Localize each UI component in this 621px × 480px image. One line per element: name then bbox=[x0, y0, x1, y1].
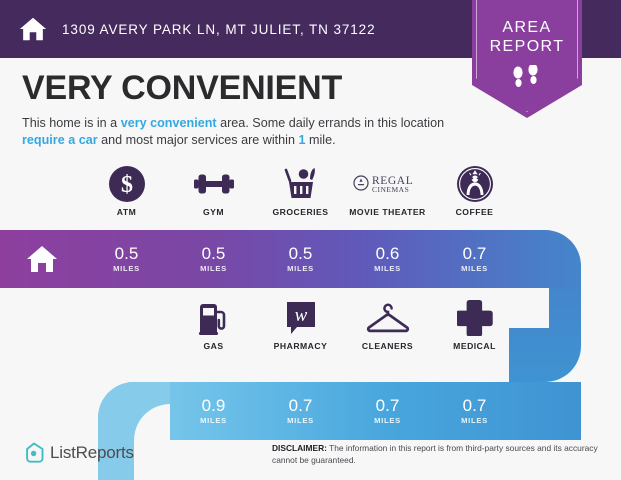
listreports-logo-text: ListReports bbox=[50, 443, 134, 463]
regal-cinemas-icon: REGAL CINEMAS bbox=[344, 164, 431, 204]
summary-part-1: This home is in a bbox=[22, 116, 121, 130]
summary-part-3: and most major services are within bbox=[98, 133, 299, 147]
category-label: ATM bbox=[83, 207, 170, 217]
summary-part-2: area. Some daily errands in this locatio… bbox=[217, 116, 445, 130]
category-icon-row-1: $ ATM GYM bbox=[0, 164, 621, 226]
category-label: COFFEE bbox=[431, 207, 518, 217]
category-groceries: GROCERIES bbox=[257, 164, 344, 217]
badge-title: AREA REPORT bbox=[472, 0, 582, 56]
area-report-badge: AREA REPORT bbox=[472, 0, 582, 118]
property-address: 1309 AVERY PARK LN, MT JULIET, TN 37122 bbox=[62, 22, 376, 37]
category-coffee: COFFEE bbox=[431, 164, 518, 217]
svg-text:CINEMAS: CINEMAS bbox=[372, 185, 409, 194]
dumbbell-icon bbox=[170, 164, 257, 204]
dollar-circle-icon: $ bbox=[83, 164, 170, 204]
footprints-icon bbox=[507, 65, 547, 91]
listreports-logo[interactable]: ListReports bbox=[24, 442, 134, 464]
starbucks-icon bbox=[431, 164, 518, 204]
category-movie-theater: REGAL CINEMAS MOVIE THEATER bbox=[344, 164, 431, 217]
disclaimer: DISCLAIMER: The information in this repo… bbox=[272, 443, 602, 466]
title-block: VERY CONVENIENT This home is in a very c… bbox=[22, 68, 472, 149]
category-label: MOVIE THEATER bbox=[344, 207, 431, 217]
badge-title-line2: REPORT bbox=[472, 37, 582, 56]
summary-highlight-3: 1 bbox=[298, 133, 305, 147]
home-icon bbox=[18, 14, 48, 44]
summary-highlight-2: require a car bbox=[22, 133, 98, 147]
category-gym: GYM bbox=[170, 164, 257, 217]
category-label: GYM bbox=[170, 207, 257, 217]
disclaimer-label: DISCLAIMER: bbox=[272, 443, 327, 453]
summary-highlight-1: very convenient bbox=[121, 116, 217, 130]
grocery-basket-icon bbox=[257, 164, 344, 204]
listreports-house-icon bbox=[24, 442, 44, 464]
category-label: GROCERIES bbox=[257, 207, 344, 217]
svg-text:$: $ bbox=[121, 172, 133, 198]
page-title: VERY CONVENIENT bbox=[22, 68, 472, 108]
badge-title-line1: AREA bbox=[472, 18, 582, 37]
category-atm: $ ATM bbox=[83, 164, 170, 217]
summary-part-4: mile. bbox=[306, 133, 336, 147]
summary-text: This home is in a very convenient area. … bbox=[22, 115, 452, 149]
